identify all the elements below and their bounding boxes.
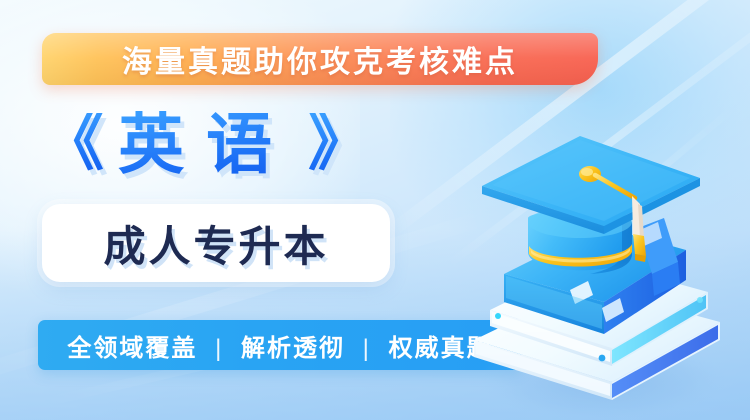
promo-banner: 海量真题助你攻克考核难点 《 英语 》 成人专升本 全领域覆盖 | 解析透彻 |… [0,0,750,420]
feature-item-2: 解析透彻 [241,335,345,362]
feature-item-3: 权威真题 [389,335,493,362]
feature-item-1: 全领域覆盖 [67,335,197,362]
title-bracket-close: 》 [308,113,370,175]
feature-strip-text: 全领域覆盖 | 解析透彻 | 权威真题 [67,328,492,363]
headline-text: 海量真题助你攻克考核难点 [122,37,518,81]
feature-separator: | [354,335,380,363]
graduation-cap-on-books-illustration [452,126,750,420]
headline-pill: 海量真题助你攻克考核难点 [42,33,598,85]
title-bracket-open: 《 [42,113,104,175]
page-title: 《 英语 》 [42,102,370,186]
subject-card: 成人专升本 [42,204,390,282]
background-light-streak [503,104,737,302]
subject-card-text: 成人专升本 [103,213,328,274]
feature-separator: | [206,335,232,363]
title-subject-word: 英语 [118,111,294,177]
feature-strip: 全领域覆盖 | 解析透彻 | 权威真题 [38,320,522,370]
